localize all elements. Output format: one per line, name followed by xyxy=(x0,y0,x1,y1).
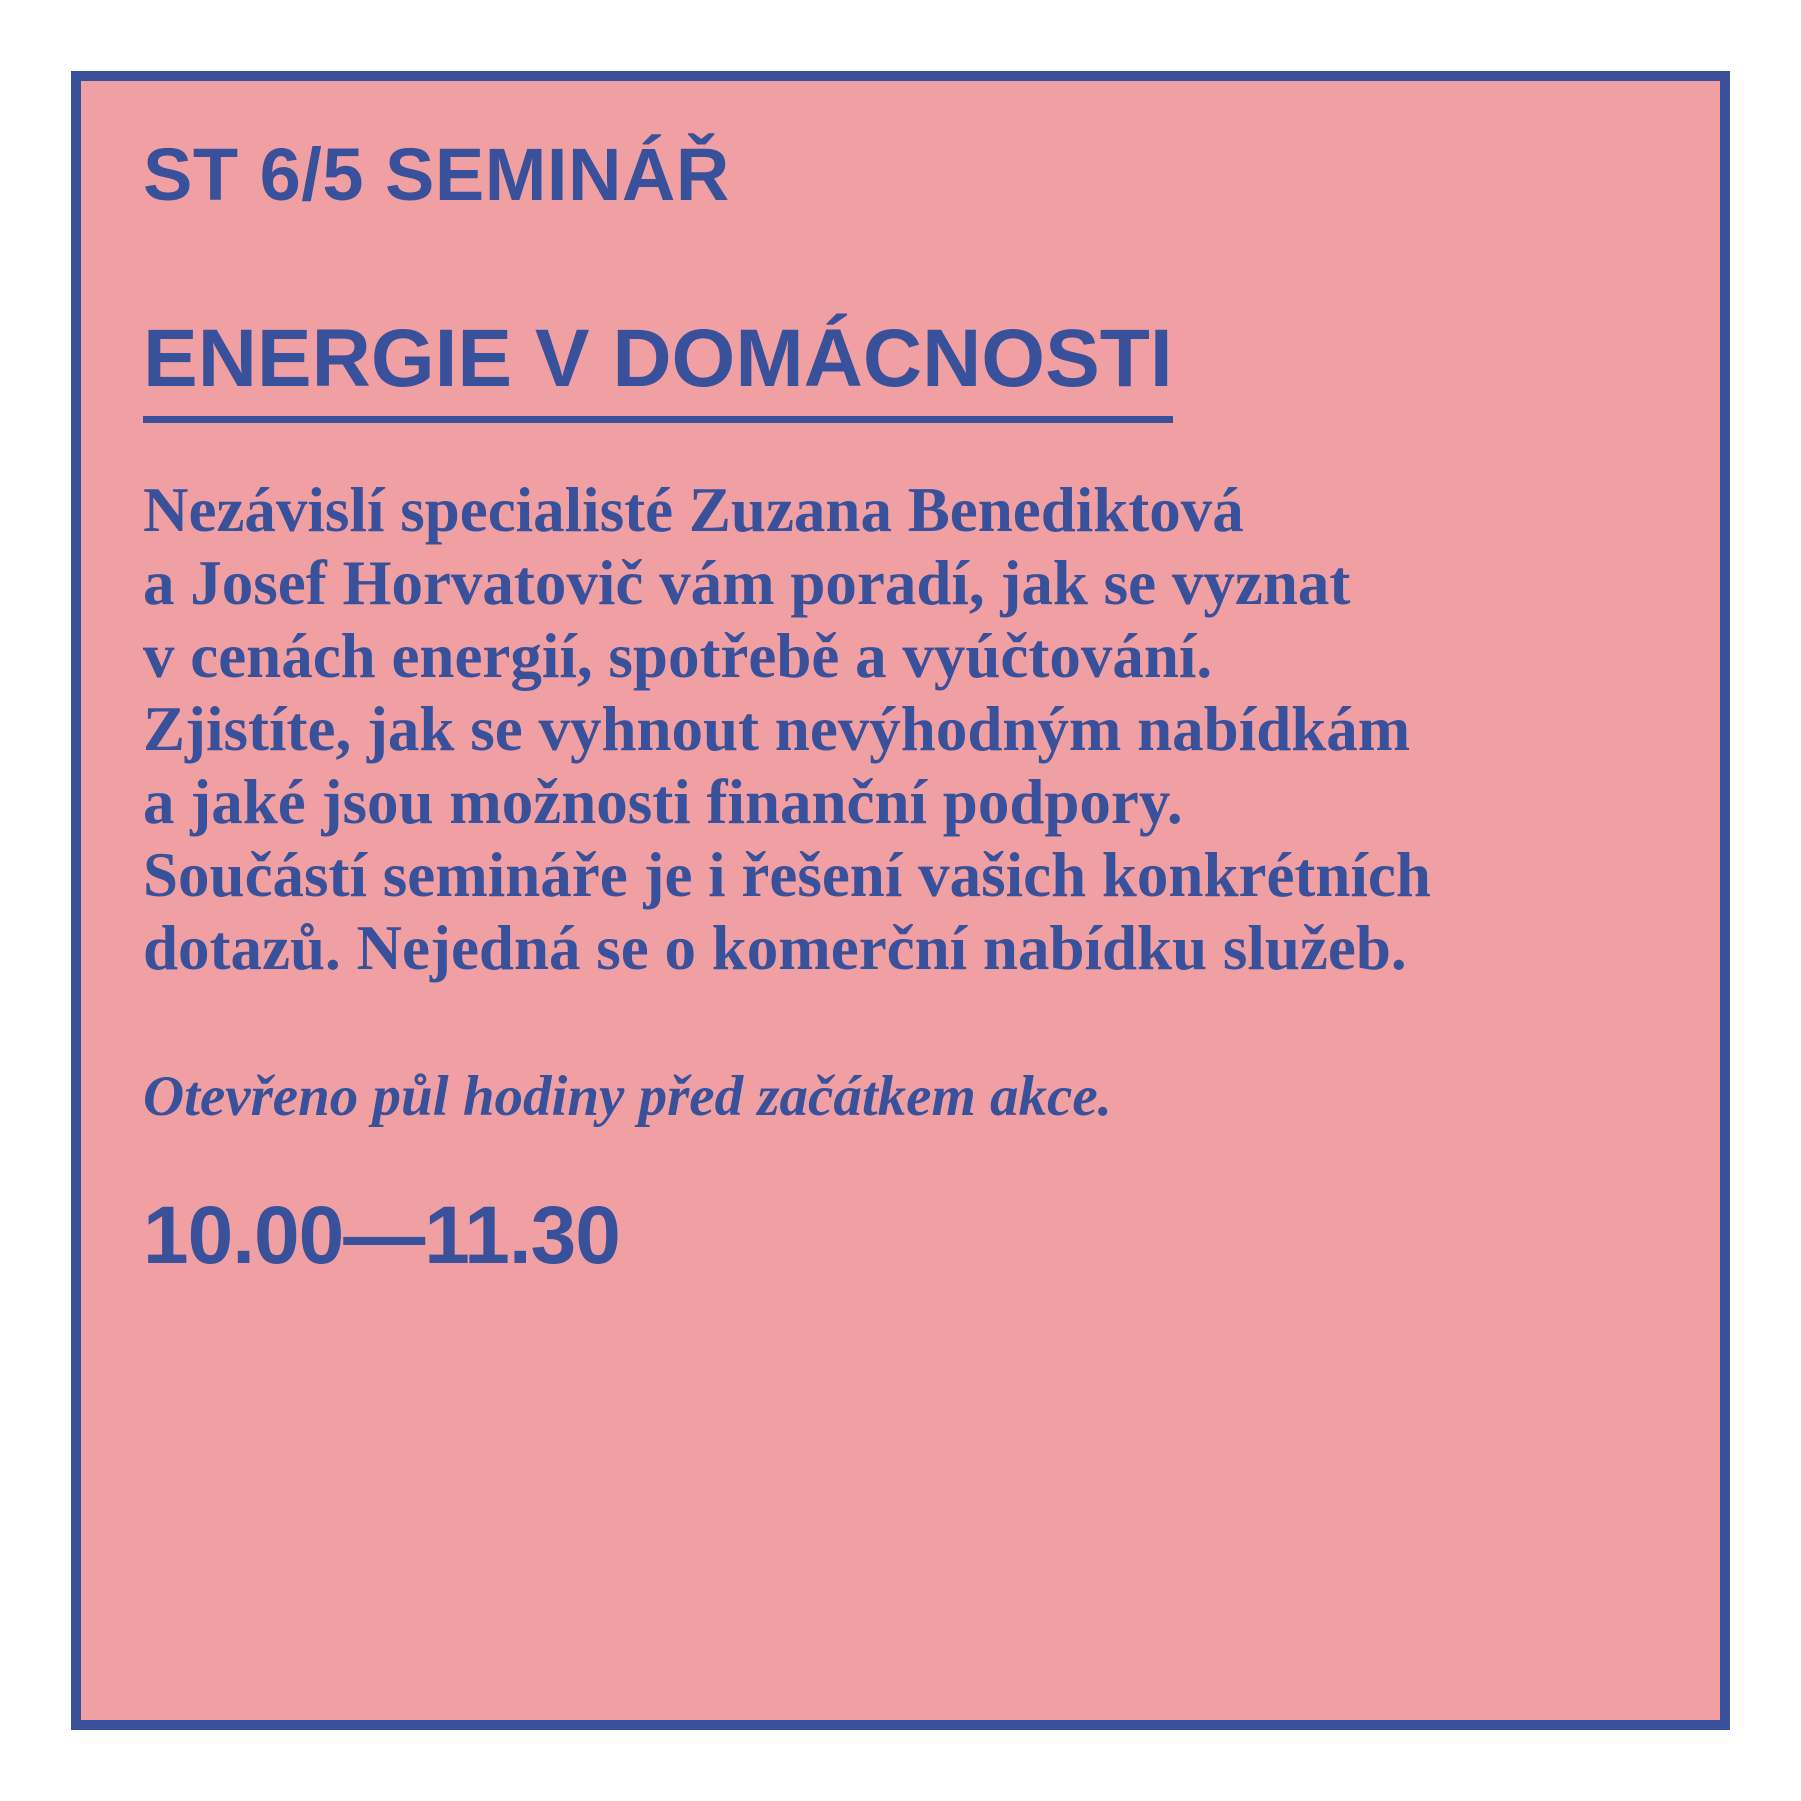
opening-note: Otevřeno půl hodiny před začátkem akce. xyxy=(143,1068,1680,1125)
page-title: ENERGIE V DOMÁCNOSTI xyxy=(143,318,1173,423)
description-line: Nezávislí specialisté Zuzana Benediktová xyxy=(143,474,1680,547)
description-line: a Josef Horvatovič vám poradí, jak se vy… xyxy=(143,547,1680,620)
poster-card: ST 6/5 SEMINÁŘ ENERGIE V DOMÁCNOSTI Nezá… xyxy=(71,71,1730,1730)
event-date-type: ST 6/5 SEMINÁŘ xyxy=(143,138,1680,212)
poster-content: ST 6/5 SEMINÁŘ ENERGIE V DOMÁCNOSTI Nezá… xyxy=(81,81,1720,1720)
description-line: Zjistíte, jak se vyhnout nevýhodným nabí… xyxy=(143,693,1680,766)
event-description: Nezávislí specialisté Zuzana Benediktová… xyxy=(143,474,1680,985)
description-line: v cenách energií, spotřebě a vyúčtování. xyxy=(143,620,1680,693)
event-time: 10.00—11.30 xyxy=(143,1195,1680,1277)
description-line: a jaké jsou možnosti finanční podpory. xyxy=(143,766,1680,839)
description-line: dotazů. Nejedná se o komerční nabídku sl… xyxy=(143,912,1680,985)
description-line: Součástí semináře je i řešení vašich kon… xyxy=(143,839,1680,912)
